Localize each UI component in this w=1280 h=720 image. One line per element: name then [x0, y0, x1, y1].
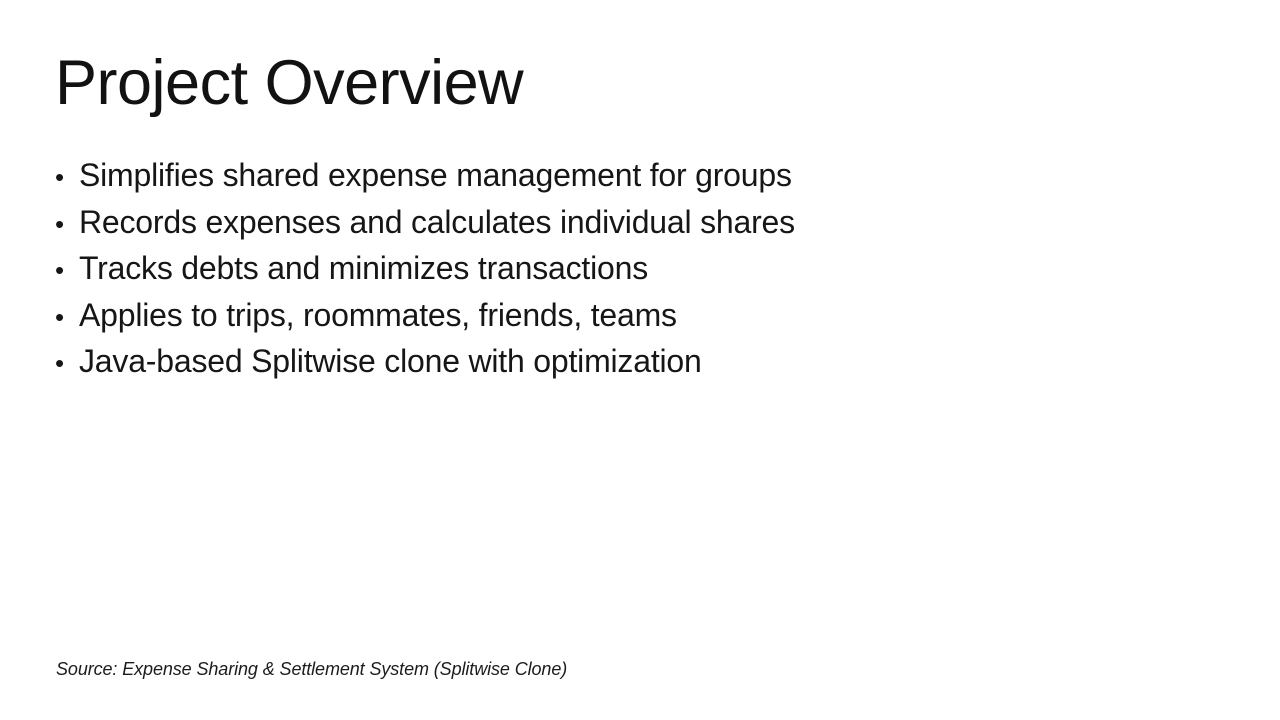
list-item: • Records expenses and calculates indivi… — [55, 199, 1155, 246]
bullet-point-icon: • — [55, 201, 79, 248]
list-item-label: Records expenses and calculates individu… — [79, 199, 795, 246]
presentation-slide: Project Overview • Simplifies shared exp… — [0, 0, 1280, 720]
bullet-point-icon: • — [55, 340, 79, 387]
list-item-label: Simplifies shared expense management for… — [79, 152, 792, 199]
bullet-list: • Simplifies shared expense management f… — [55, 152, 1155, 385]
bullet-point-icon: • — [55, 247, 79, 294]
list-item: • Applies to trips, roommates, friends, … — [55, 292, 1155, 339]
list-item-label: Tracks debts and minimizes transactions — [79, 245, 648, 292]
list-item-label: Applies to trips, roommates, friends, te… — [79, 292, 677, 339]
list-item: • Tracks debts and minimizes transaction… — [55, 245, 1155, 292]
bullet-point-icon: • — [55, 154, 79, 201]
list-item: • Simplifies shared expense management f… — [55, 152, 1155, 199]
list-item-label: Java-based Splitwise clone with optimiza… — [79, 338, 702, 385]
page-title: Project Overview — [55, 52, 523, 115]
list-item: • Java-based Splitwise clone with optimi… — [55, 338, 1155, 385]
source-attribution: Source: Expense Sharing & Settlement Sys… — [56, 658, 567, 680]
bullet-point-icon: • — [55, 294, 79, 341]
